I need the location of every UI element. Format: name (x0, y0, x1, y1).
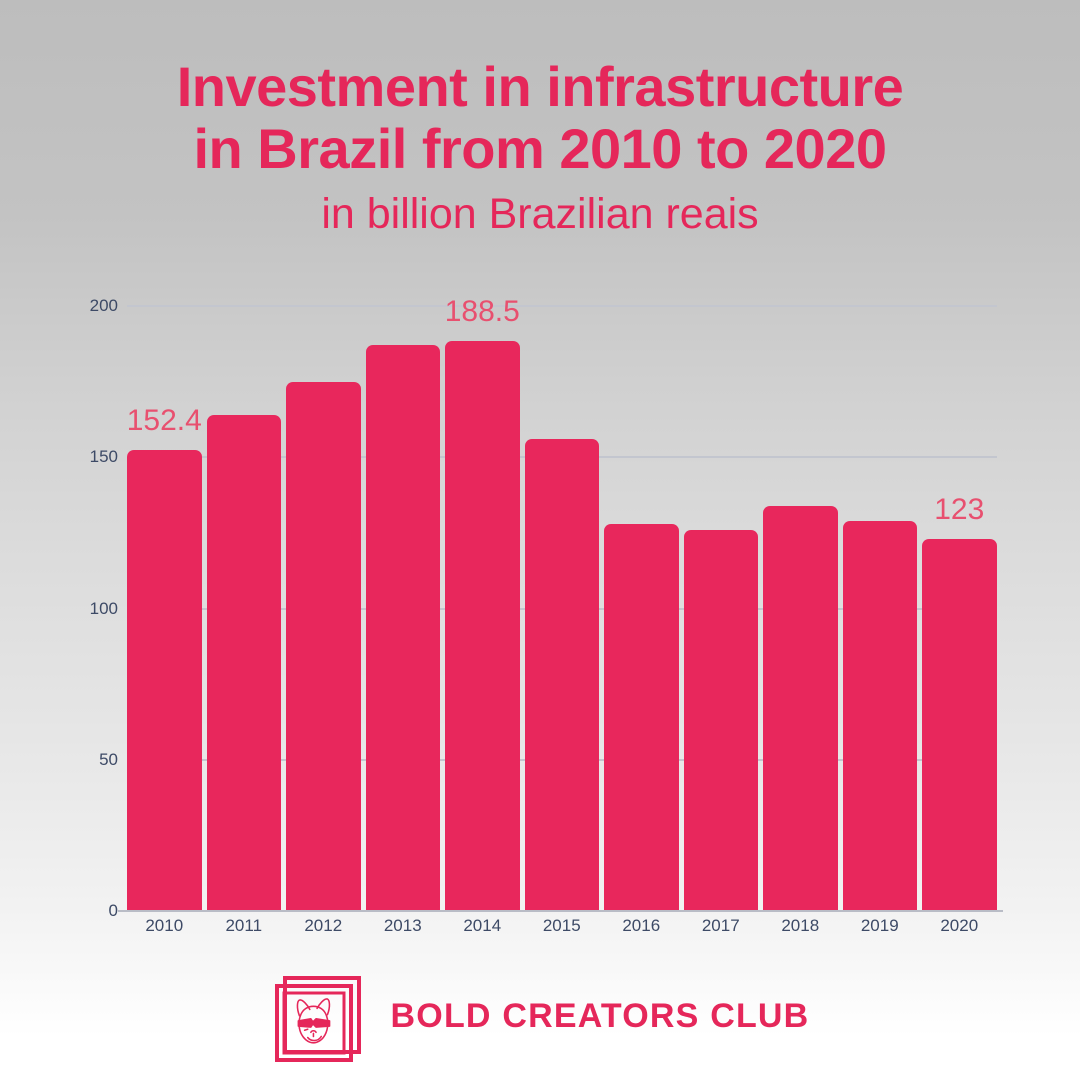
brand-name: BOLD CREATORS CLUB (391, 997, 810, 1036)
y-axis-tick-label: 100 (78, 600, 118, 618)
footer-branding: BOLD CREATORS CLUB (0, 968, 1080, 1064)
bar-value-label-2020: 123 (892, 495, 1027, 525)
bar-2020[interactable] (922, 539, 997, 911)
bar-value-label-2014: 188.5 (415, 297, 550, 327)
bar-2011[interactable] (207, 415, 282, 911)
x-axis-line (118, 910, 1003, 912)
dog-with-sunglasses-icon (271, 968, 367, 1064)
y-axis-tick-label: 50 (78, 751, 118, 769)
y-axis-tick-label: 150 (78, 448, 118, 466)
bar-2012[interactable] (286, 382, 361, 911)
bar-2015[interactable] (525, 439, 600, 911)
bar-chart-plot: 050100150200 152.4188.5123 2010201120122… (0, 0, 1080, 1080)
gridline (127, 305, 997, 307)
bar-2016[interactable] (604, 524, 679, 911)
y-axis-tick-label: 200 (78, 297, 118, 315)
y-axis-tick-label: 0 (78, 902, 118, 920)
bar-2013[interactable] (366, 345, 441, 911)
bar-2010[interactable] (127, 450, 202, 911)
bar-2014[interactable] (445, 341, 520, 911)
bar-2019[interactable] (843, 521, 918, 911)
bar-2018[interactable] (763, 506, 838, 911)
bar-2017[interactable] (684, 530, 759, 911)
x-axis-tick-label: 2020 (912, 916, 1007, 936)
